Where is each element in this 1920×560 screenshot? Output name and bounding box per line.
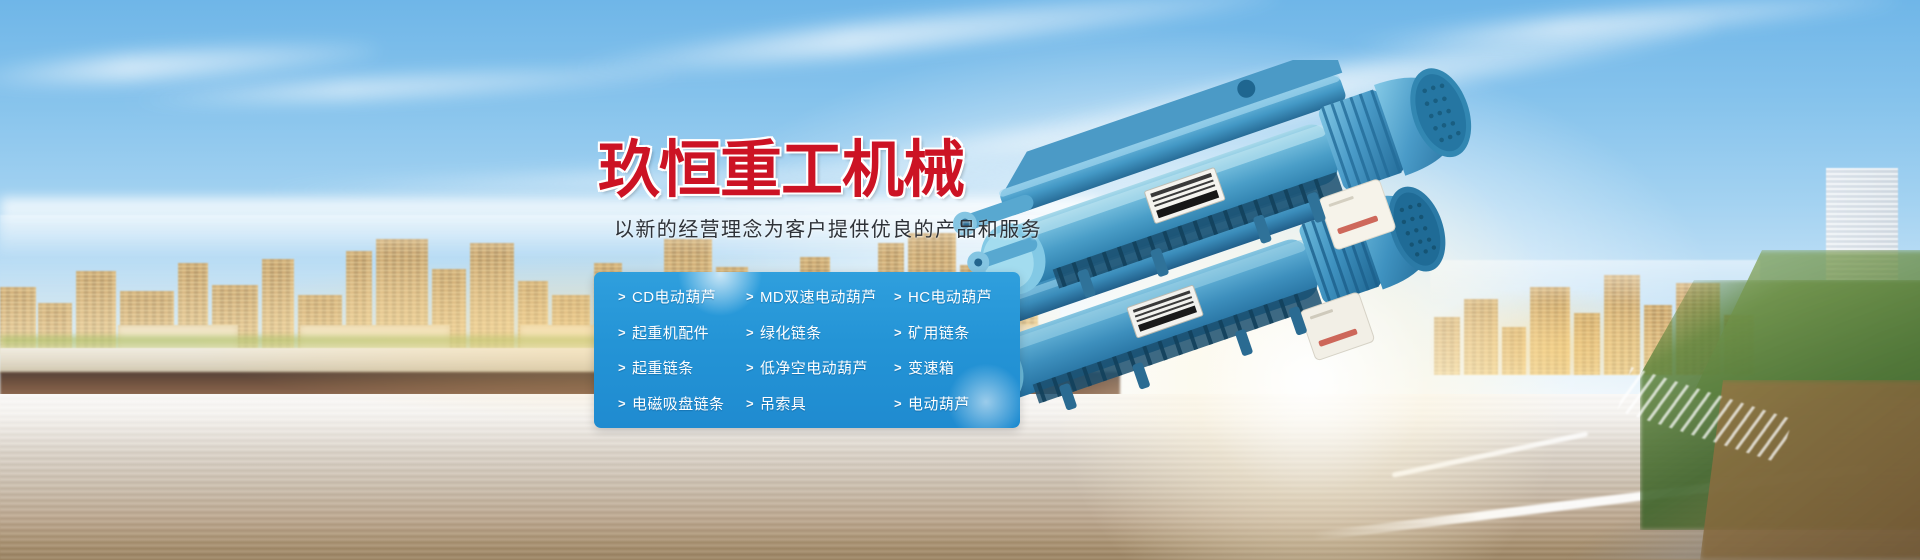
chevron-right-icon: > [746, 396, 754, 411]
product-link-label: 低净空电动葫芦 [760, 357, 868, 378]
product-link-label: 起重链条 [632, 357, 694, 378]
product-link-label: 电动葫芦 [908, 393, 970, 414]
product-link-label: CD电动葫芦 [632, 286, 716, 307]
product-link-gearbox[interactable]: > 变速箱 [894, 350, 1020, 386]
chevron-right-icon: > [618, 360, 626, 375]
product-category-grid: > CD电动葫芦 > MD双速电动葫芦 > HC电动葫芦 > 起重机配件 > 绿… [594, 272, 1020, 428]
product-link-label: HC电动葫芦 [908, 286, 992, 307]
chevron-right-icon: > [746, 360, 754, 375]
product-link-label: MD双速电动葫芦 [760, 286, 877, 307]
chevron-right-icon: > [618, 396, 626, 411]
chevron-right-icon: > [894, 289, 902, 304]
product-link-low-headroom-hoist[interactable]: > 低净空电动葫芦 [746, 350, 894, 386]
chevron-right-icon: > [894, 325, 902, 340]
page-subtitle: 以新的经营理念为客户提供优良的产品和服务 [614, 218, 1042, 242]
product-link-greening-chain[interactable]: > 绿化链条 [746, 315, 894, 351]
chevron-right-icon: > [894, 360, 902, 375]
product-link-mining-chain[interactable]: > 矿用链条 [894, 315, 1020, 351]
product-link-label: 矿用链条 [908, 322, 970, 343]
product-link-label: 起重机配件 [632, 322, 709, 343]
product-link-label: 电磁吸盘链条 [632, 393, 724, 414]
chevron-right-icon: > [618, 325, 626, 340]
product-category-panel: > CD电动葫芦 > MD双速电动葫芦 > HC电动葫芦 > 起重机配件 > 绿… [594, 272, 1020, 428]
product-link-hc-hoist[interactable]: > HC电动葫芦 [894, 279, 1020, 315]
product-link-cd-hoist[interactable]: > CD电动葫芦 [618, 279, 746, 315]
chevron-right-icon: > [894, 396, 902, 411]
chevron-right-icon: > [746, 289, 754, 304]
product-link-lifting-slings[interactable]: > 吊索具 [746, 386, 894, 422]
product-link-electric-hoist[interactable]: > 电动葫芦 [894, 386, 1020, 422]
product-link-crane-parts[interactable]: > 起重机配件 [618, 315, 746, 351]
product-link-label: 变速箱 [908, 357, 954, 378]
product-link-magnetic-chuck-chain[interactable]: > 电磁吸盘链条 [618, 386, 746, 422]
product-link-md-dual-speed-hoist[interactable]: > MD双速电动葫芦 [746, 279, 894, 315]
product-link-label: 绿化链条 [760, 322, 822, 343]
chevron-right-icon: > [746, 325, 754, 340]
page-title: 玖恒重工机械 [598, 140, 964, 202]
chevron-right-icon: > [618, 289, 626, 304]
product-link-label: 吊索具 [760, 393, 806, 414]
promotional-banner: 玖恒重工机械 以新的经营理念为客户提供优良的产品和服务 > CD电动葫芦 > M… [0, 0, 1920, 560]
product-link-lifting-chain[interactable]: > 起重链条 [618, 350, 746, 386]
